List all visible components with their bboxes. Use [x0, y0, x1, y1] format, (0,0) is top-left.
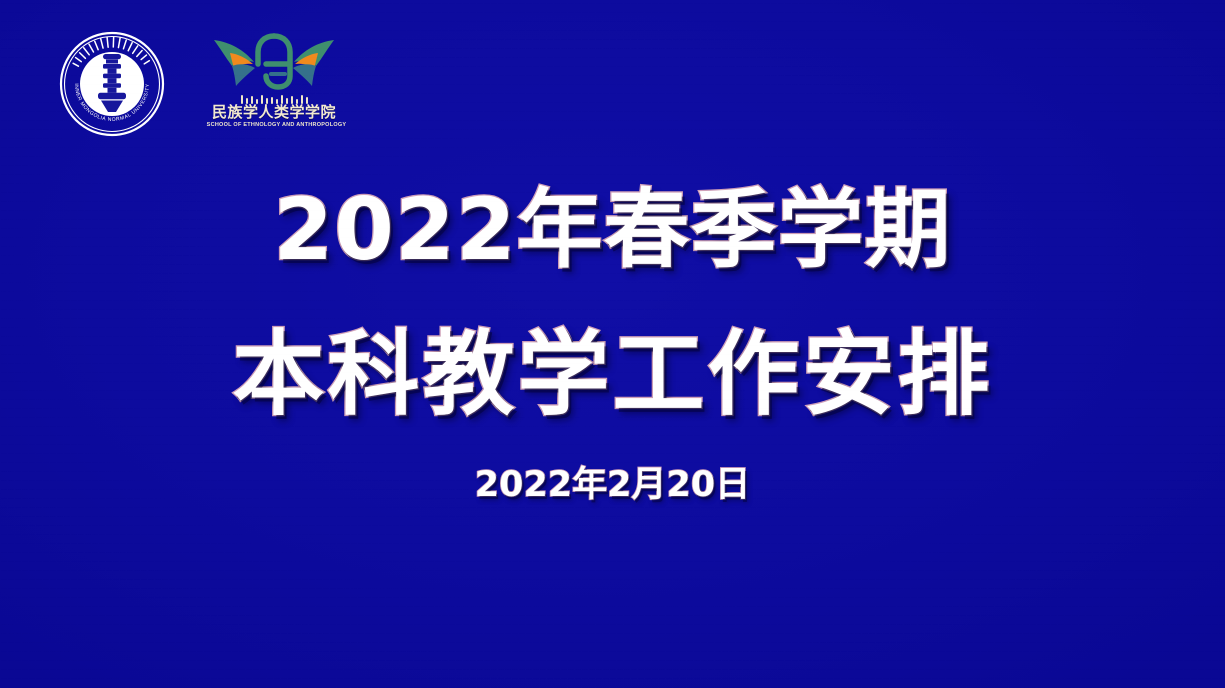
school-emblem-icon: [208, 30, 340, 92]
school-english-name: SCHOOL OF ETHNOLOGY AND ANTHROPOLOGY: [207, 121, 342, 129]
subtitle-date: 2022年2月20日: [0, 464, 1225, 506]
title-block: 2022年春季学期 本科教学工作安排 2022年2月20日: [0, 178, 1225, 506]
university-seal-logo: INNER MONGOLIA NORMAL UNIVERSITY: [56, 28, 168, 140]
title-line-2: 本科教学工作安排: [0, 320, 1225, 430]
school-chinese-name: 民族学人类学学院: [208, 104, 340, 121]
school-logo: 民族学人类学学院 SCHOOL OF ETHNOLOGY AND ANTHROP…: [208, 30, 340, 142]
logo-row: INNER MONGOLIA NORMAL UNIVERSITY: [56, 26, 356, 146]
presentation-slide: INNER MONGOLIA NORMAL UNIVERSITY: [0, 0, 1225, 688]
title-line-1: 2022年春季学期: [0, 178, 1225, 282]
